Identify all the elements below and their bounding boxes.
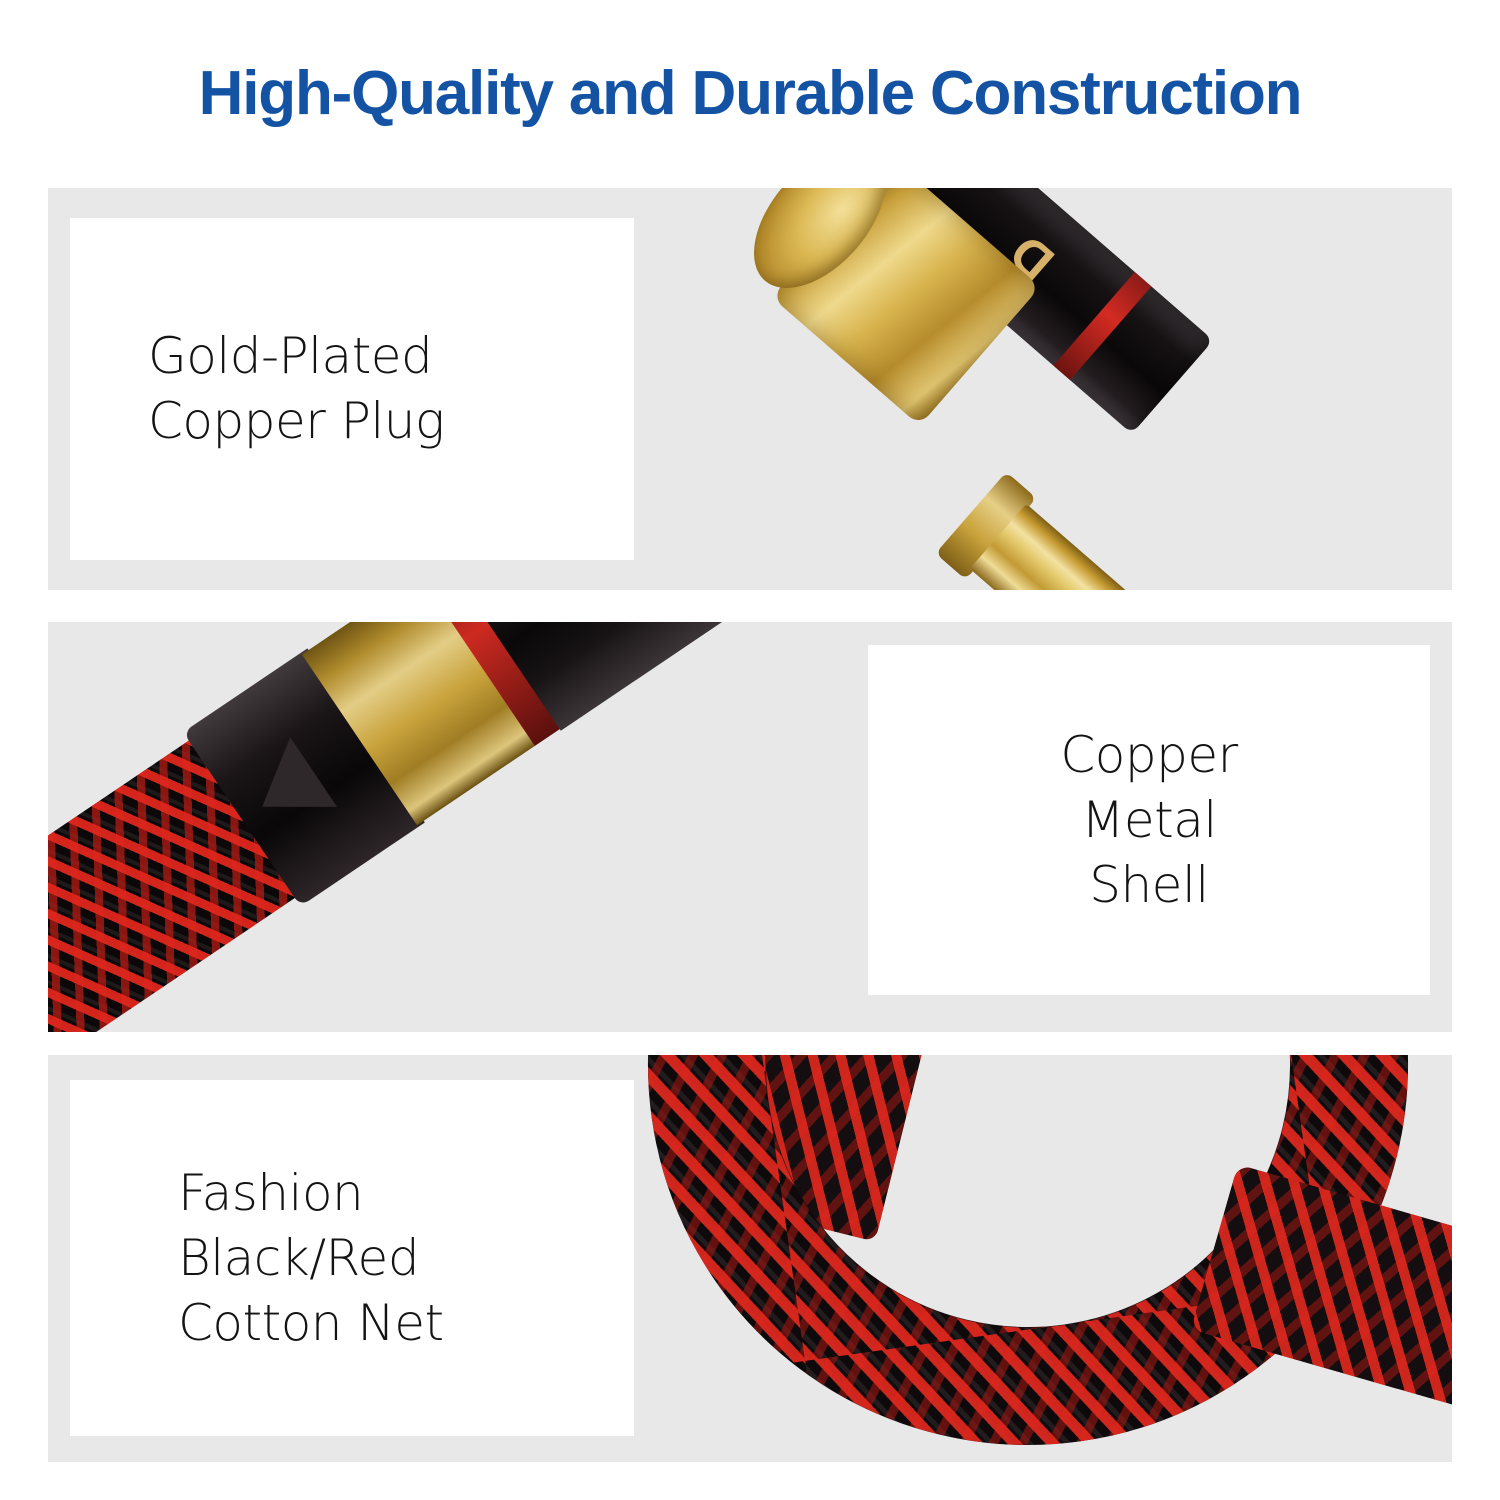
caption-line: Fashion (178, 1161, 363, 1226)
caption-line: Cotton Net (178, 1291, 444, 1356)
panel-copper-metal-shell: DRE Copper Metal Shell (48, 622, 1452, 1032)
panel-fashion-black-red-cotton-net: Fashion Black/Red Cotton Net (48, 1055, 1452, 1462)
caption-fashion-black-red-cotton-net: Fashion Black/Red Cotton Net (70, 1080, 634, 1436)
caption-line: Gold-Plated (148, 324, 432, 389)
caption-gold-plated-copper-plug: Gold-Plated Copper Plug (70, 218, 634, 560)
caption-line: Copper Plug (148, 389, 444, 454)
caption-line: Black/Red (178, 1226, 419, 1291)
page-title: High-Quality and Durable Construction (0, 58, 1500, 129)
caption-line: Copper (1060, 723, 1237, 788)
plug-shaft (964, 499, 1262, 590)
caption-line: Shell (1089, 853, 1208, 918)
connector-assembly: DRE (48, 622, 929, 1032)
caption-copper-metal-shell: Copper Metal Shell (868, 645, 1430, 995)
brand-logo-text: DRE (510, 622, 695, 640)
infographic-page: High-Quality and Durable Construction D … (0, 0, 1500, 1500)
caption-line: Metal (1081, 788, 1217, 853)
barrel-red-ring (1053, 272, 1151, 380)
panel-gold-plated-copper-plug: D Gold-Plated Copper Plug (48, 188, 1452, 590)
